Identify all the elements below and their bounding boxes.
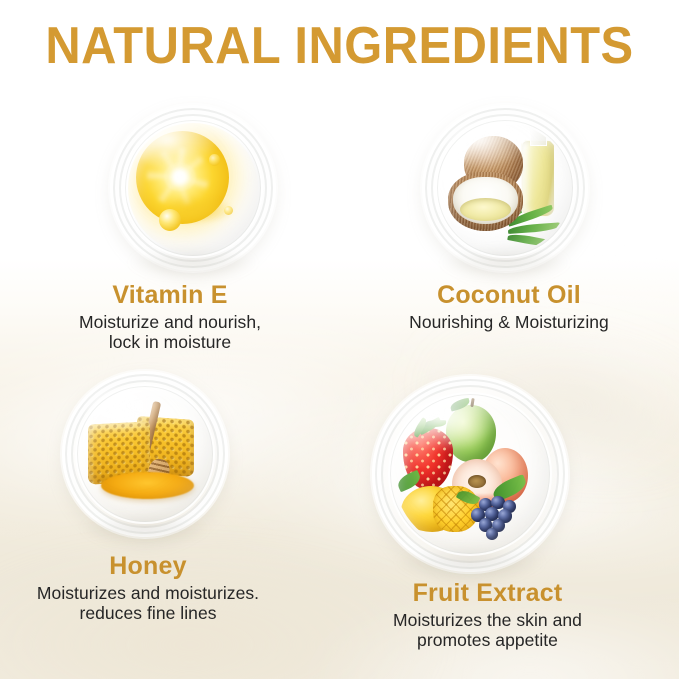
petri-dish-honey — [62, 371, 228, 537]
palm-leaf — [507, 232, 552, 248]
ingredient-card-coconut-oil: Coconut Oil Nourishing & Moisturizing — [339, 100, 679, 350]
dish-shadow — [82, 515, 208, 542]
peach-skin — [451, 493, 503, 510]
dish-shadow — [130, 249, 256, 276]
ingredient-description: Moisturize and nourish, lock in moisture — [0, 312, 340, 353]
whole-peach — [482, 448, 528, 503]
palm-leaf — [507, 222, 559, 234]
ingredient-card-fruit-extract: Fruit Extract Moisturizes the skin and p… — [296, 368, 679, 658]
label-honey: Honey Moisturizes and moisturizes. reduc… — [0, 553, 296, 624]
ingredient-card-vitamin-e: Vitamin E Moisturize and nourish, lock i… — [0, 100, 340, 360]
ingredient-description: Nourishing & Moisturizing — [339, 312, 679, 333]
honey-drip — [148, 462, 165, 488]
halved-coconut — [448, 172, 523, 230]
oil-highlight — [164, 163, 196, 191]
oil-sparkle — [147, 148, 209, 206]
ingredient-name: Fruit Extract — [296, 580, 679, 608]
mint-leaf — [395, 470, 423, 493]
label-coconut-oil: Coconut Oil Nourishing & Moisturizing — [339, 282, 679, 332]
grape-leaf — [490, 474, 529, 502]
dish-contents-coconut-oil — [440, 123, 570, 253]
petri-dish-coconut-oil — [422, 105, 588, 271]
label-fruit-extract: Fruit Extract Moisturizes the skin and p… — [296, 580, 679, 651]
grape-leaf — [455, 488, 480, 508]
ingredient-name: Honey — [0, 553, 296, 581]
petri-dish-vitamin-e — [110, 105, 276, 271]
ingredient-description: Moisturizes and moisturizes. reduces fin… — [0, 583, 296, 624]
palm-leaf — [506, 205, 553, 227]
mango-sliced — [433, 486, 479, 532]
apple-stem — [470, 398, 474, 407]
peach-pit — [468, 475, 486, 488]
mango — [401, 486, 459, 532]
dish-gloss — [445, 120, 531, 170]
ingredient-description: Moisturizes the skin and promotes appeti… — [296, 610, 679, 651]
apple-leaf — [449, 398, 471, 412]
grape-bunch — [464, 489, 525, 541]
label-vitamin-e: Vitamin E Moisturize and nourish, lock i… — [0, 282, 340, 353]
dish-gloss — [399, 394, 501, 453]
strawberry-leaf — [425, 419, 446, 427]
dish-contents-honey — [80, 389, 210, 519]
strawberry-leaf — [417, 417, 442, 435]
dish-shadow — [442, 249, 568, 276]
whole-coconut — [464, 136, 524, 190]
green-apple — [446, 405, 496, 462]
dish-gloss — [85, 386, 171, 436]
oil-smear — [167, 196, 234, 224]
honey-dipper-head — [145, 457, 172, 489]
natural-ingredients-poster: NATURAL INGREDIENTS Vitamin E Moisturize… — [0, 0, 679, 679]
honey-pool — [101, 472, 194, 499]
honeycomb-block — [137, 416, 194, 477]
strawberry-leaf — [411, 418, 428, 438]
ingredient-card-honey: Honey Moisturizes and moisturizes. reduc… — [0, 368, 296, 648]
honeycomb-block — [88, 421, 150, 484]
oil-bubble — [224, 206, 233, 215]
petri-dish-fruit-extract — [372, 376, 568, 572]
oil-bubble — [209, 154, 221, 166]
palm-leaf — [507, 197, 539, 220]
dish-shadow — [396, 547, 545, 578]
coconut-flesh — [453, 177, 518, 224]
honey-dipper-handle — [137, 401, 162, 474]
vitamin-e-oil-droplet — [136, 131, 229, 224]
ingredient-name: Vitamin E — [0, 282, 340, 310]
dish-contents-vitamin-e — [128, 123, 258, 253]
oil-bubble — [159, 209, 181, 231]
halved-peach — [452, 459, 502, 509]
strawberry — [403, 428, 453, 489]
dish-contents-fruit-extract — [394, 398, 547, 551]
coconut-oil-pool — [460, 198, 511, 221]
ingredient-name: Coconut Oil — [339, 282, 679, 310]
oil-bottle — [521, 140, 555, 217]
dish-gloss — [133, 120, 219, 170]
page-title: NATURAL INGREDIENTS — [20, 16, 658, 76]
